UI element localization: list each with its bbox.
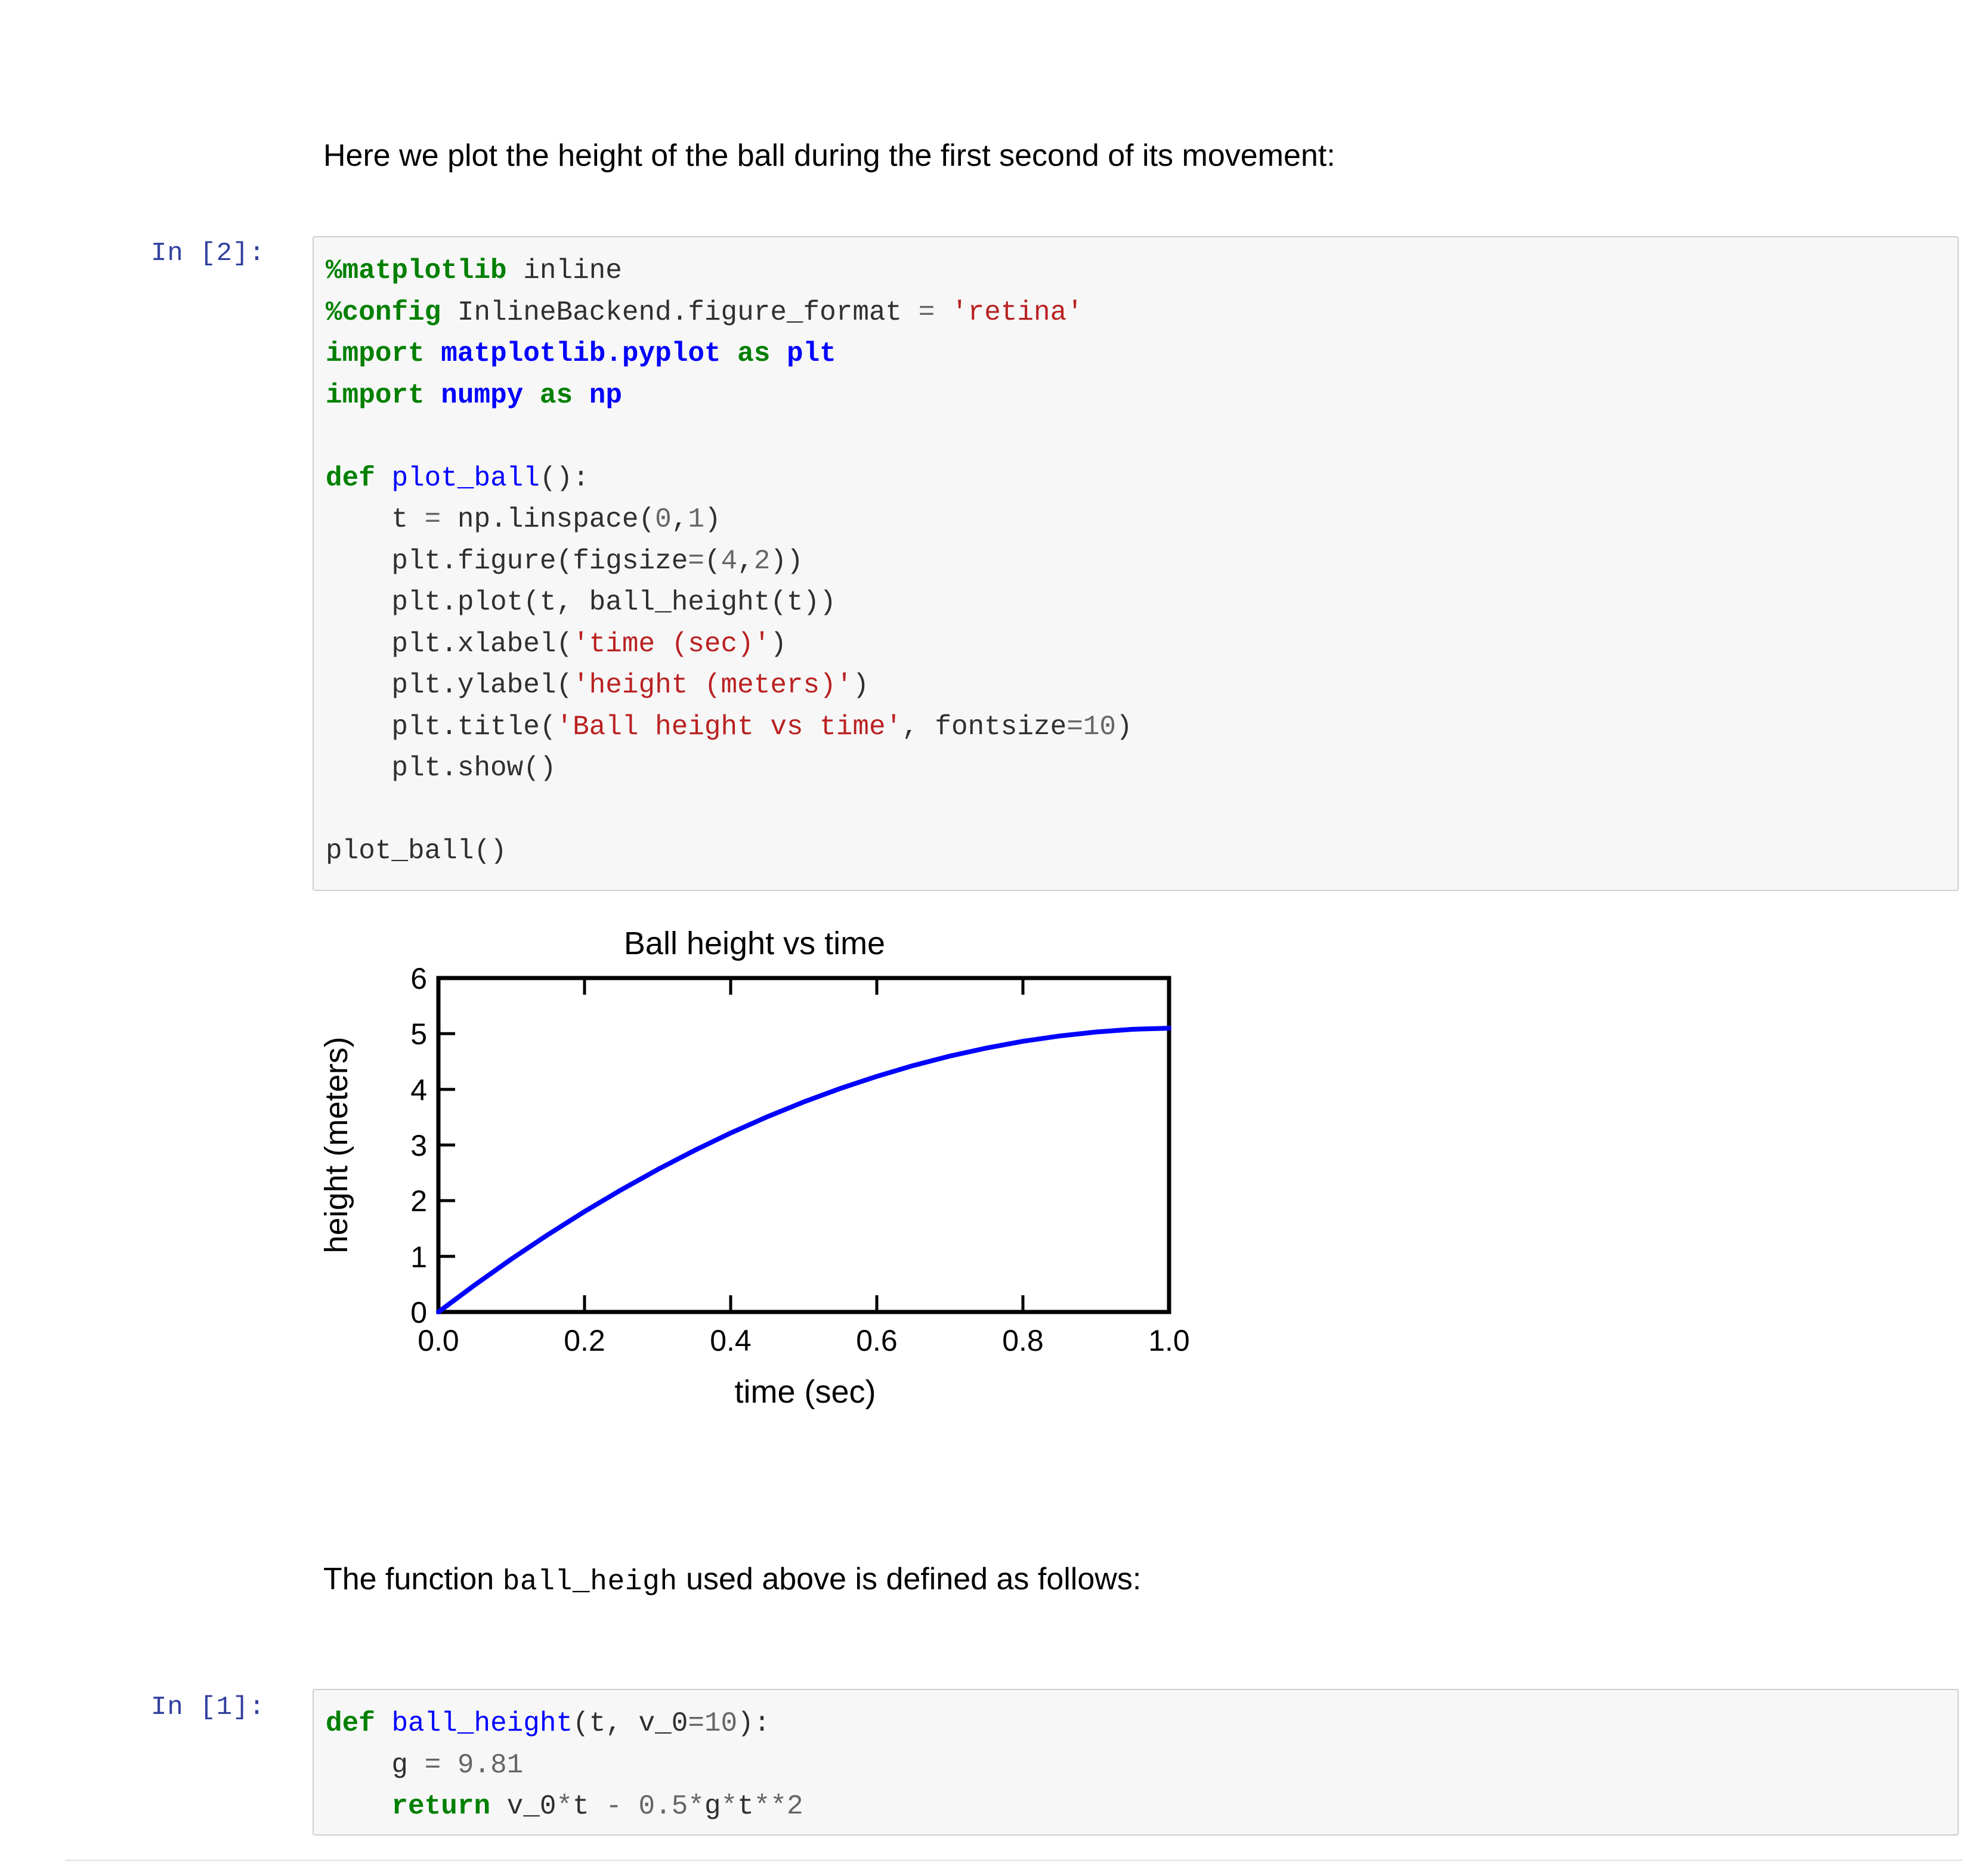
code-token: np [589, 380, 622, 411]
code-token [622, 1791, 639, 1822]
data-line-ball-height [438, 1028, 1169, 1312]
code-token: = [425, 1750, 441, 1781]
code-token: t [737, 1791, 754, 1822]
code-token: v_0 [490, 1791, 556, 1822]
code-token: , [737, 546, 754, 577]
y-tick-marks [438, 978, 455, 1312]
code-token: * [556, 1791, 573, 1822]
code-token: ) [1116, 711, 1133, 742]
code-token: = [425, 504, 441, 535]
code-token: 2 [787, 1791, 803, 1822]
inline-code-ball-heigh: ball_heigh [503, 1566, 678, 1598]
code-token: 'retina' [951, 297, 1083, 328]
code-input-area-2[interactable]: %matplotlib inline %config InlineBackend… [313, 236, 1959, 891]
code-token: import [326, 380, 425, 411]
code-token: def [326, 463, 375, 494]
code-token: return [391, 1791, 490, 1822]
svg-text:0.0: 0.0 [418, 1324, 459, 1357]
code-token: ) [852, 670, 869, 701]
y-axis-label: height (meters) [319, 1036, 354, 1253]
code-token: 'time (sec)' [573, 629, 770, 660]
code-token: plt.show() [326, 753, 556, 784]
cell-prompt-in-1: In [1]: [151, 1692, 265, 1722]
code-token: t [326, 504, 425, 535]
code-token: 'Ball height vs time' [556, 711, 902, 742]
notebook-page: Here we plot the height of the ball duri… [0, 0, 1988, 1866]
markdown-paragraph-function-note: The function ball_heigh used above is de… [323, 1559, 1141, 1601]
code-token: plt.plot(t, ball_height(t)) [326, 587, 836, 618]
code-token: ( [704, 546, 721, 577]
code-token: = [688, 546, 704, 577]
code-token: g [326, 1750, 425, 1781]
code-input-area-1[interactable]: def ball_height(t, v_0=10): g = 9.81 ret… [313, 1689, 1959, 1836]
code-token: plt.title( [326, 711, 556, 742]
svg-text:4: 4 [410, 1073, 427, 1107]
code-token [523, 380, 540, 411]
paragraph-suffix: used above is defined as follows: [678, 1562, 1142, 1596]
code-token: 2 [754, 546, 771, 577]
svg-text:3: 3 [410, 1129, 427, 1162]
code-token: ) [704, 504, 721, 535]
svg-text:5: 5 [410, 1017, 427, 1051]
code-token: = [919, 297, 935, 328]
code-token [935, 297, 951, 328]
code-token: 4 [721, 546, 738, 577]
svg-text:0.4: 0.4 [710, 1324, 752, 1357]
code-token: * [721, 1791, 738, 1822]
code-token: plot_ball [391, 463, 539, 494]
code-token: ** [754, 1791, 787, 1822]
x-axis-label: time (sec) [734, 1374, 876, 1410]
code-token [573, 380, 589, 411]
code-token: as [737, 338, 770, 369]
svg-text:0.6: 0.6 [856, 1324, 898, 1357]
y-tick-labels: 0 1 2 3 4 5 6 [410, 962, 427, 1329]
code-token: import [326, 338, 425, 369]
code-token: as [540, 380, 573, 411]
svg-text:2: 2 [410, 1184, 427, 1218]
code-token: plot_ball() [326, 835, 507, 867]
code-token: plt [787, 338, 836, 369]
markdown-paragraph-intro: Here we plot the height of the ball duri… [323, 136, 1335, 176]
code-token [721, 338, 738, 369]
code-token: , [672, 504, 688, 535]
chart-title: Ball height vs time [624, 926, 885, 961]
code-token [425, 338, 441, 369]
code-token [441, 1750, 457, 1781]
svg-text:1: 1 [410, 1240, 427, 1274]
code-token: InlineBackend.figure_format [441, 297, 919, 328]
code-token: 1 [688, 504, 704, 535]
svg-text:6: 6 [410, 962, 427, 995]
code-token: plt.xlabel( [326, 629, 573, 660]
code-token: 0 [655, 504, 672, 535]
x-tick-labels: 0.0 0.2 0.4 0.6 0.8 1.0 [418, 1324, 1190, 1357]
code-token: (t, v_0 [573, 1708, 688, 1739]
code-token: def [326, 1708, 375, 1739]
code-token [326, 1791, 391, 1822]
code-token: = [688, 1708, 704, 1739]
code-token: %config [326, 297, 441, 328]
svg-text:0.2: 0.2 [564, 1324, 605, 1357]
code-token: (): [540, 463, 589, 494]
code-token: g [704, 1791, 721, 1822]
cell-prompt-in-2: In [2]: [151, 239, 265, 268]
code-token: - [605, 1791, 622, 1822]
code-token: ) [770, 629, 787, 660]
source-code-2[interactable]: %matplotlib inline %config InlineBackend… [326, 250, 1133, 872]
code-token: numpy [441, 380, 523, 411]
ball-height-plot: Ball height vs time [310, 906, 1241, 1455]
x-tick-marks [438, 978, 1169, 1312]
code-token: 10 [1083, 711, 1116, 742]
code-token: = [1066, 711, 1083, 742]
code-token: np.linspace( [441, 504, 655, 535]
axes-frame [438, 978, 1169, 1312]
code-token: 9.81 [457, 1750, 523, 1781]
code-token [425, 380, 441, 411]
code-token: plt.figure(figsize [326, 546, 688, 577]
code-token: 0.5 [639, 1791, 688, 1822]
code-token [375, 463, 392, 494]
page-bottom-rule [66, 1859, 1962, 1861]
code-token: , fontsize [902, 711, 1066, 742]
code-token: ball_height [391, 1708, 573, 1739]
code-token: %matplotlib [326, 255, 507, 286]
code-token [375, 1708, 392, 1739]
svg-text:0.8: 0.8 [1002, 1324, 1044, 1357]
figure-output-ball-height: Ball height vs time [310, 906, 1241, 1455]
svg-text:1.0: 1.0 [1148, 1324, 1190, 1357]
code-token: 'height (meters)' [573, 670, 852, 701]
paragraph-prefix: The function [323, 1562, 503, 1596]
code-token: ): [737, 1708, 770, 1739]
code-token: )) [770, 546, 803, 577]
code-token: plt.ylabel( [326, 670, 573, 701]
code-token: matplotlib.pyplot [441, 338, 721, 369]
code-token: 10 [704, 1708, 737, 1739]
source-code-1[interactable]: def ball_height(t, v_0=10): g = 9.81 ret… [326, 1703, 803, 1828]
code-token: t [573, 1791, 605, 1822]
code-token [770, 338, 787, 369]
code-token: * [688, 1791, 704, 1822]
code-token: inline [507, 255, 622, 286]
